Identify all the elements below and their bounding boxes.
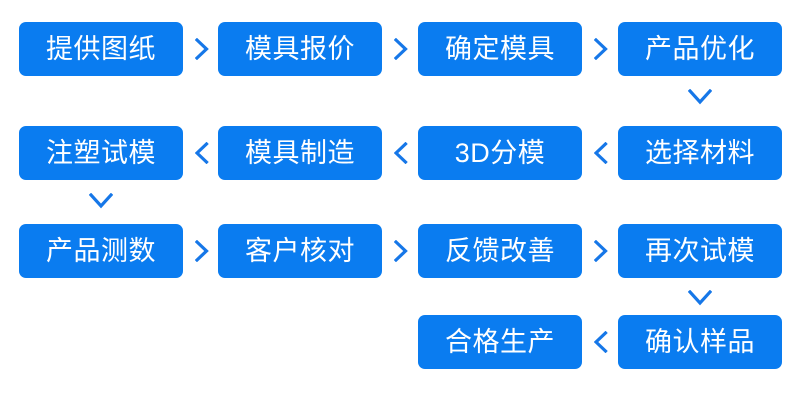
node-select-material[interactable]: 选择材料 xyxy=(618,126,782,180)
node-product-measure[interactable]: 产品测数 xyxy=(19,224,183,278)
chevron-left-icon xyxy=(384,126,418,180)
process-flow-diagram: 提供图纸 模具报价 确定模具 产品优化 注塑试模 模具制造 3D分模 选择材料 … xyxy=(0,0,790,416)
node-product-optimize[interactable]: 产品优化 xyxy=(618,22,782,76)
node-qualified-production[interactable]: 合格生产 xyxy=(418,315,582,369)
chevron-left-icon xyxy=(584,126,618,180)
chevron-right-icon xyxy=(584,224,618,278)
chevron-right-icon xyxy=(584,22,618,76)
node-confirm-mold[interactable]: 确定模具 xyxy=(418,22,582,76)
chevron-left-icon xyxy=(584,315,618,369)
chevron-right-icon xyxy=(384,224,418,278)
node-mold-quotation[interactable]: 模具报价 xyxy=(218,22,382,76)
chevron-right-icon xyxy=(185,22,219,76)
node-3d-parting[interactable]: 3D分模 xyxy=(418,126,582,180)
node-feedback-improve[interactable]: 反馈改善 xyxy=(418,224,582,278)
chevron-down-icon xyxy=(81,184,121,218)
node-customer-check[interactable]: 客户核对 xyxy=(218,224,382,278)
node-injection-trial[interactable]: 注塑试模 xyxy=(19,126,183,180)
chevron-right-icon xyxy=(185,224,219,278)
chevron-down-icon xyxy=(680,80,720,114)
node-mold-manufacture[interactable]: 模具制造 xyxy=(218,126,382,180)
chevron-left-icon xyxy=(185,126,219,180)
node-confirm-sample[interactable]: 确认样品 xyxy=(618,315,782,369)
node-retrial-mold[interactable]: 再次试模 xyxy=(618,224,782,278)
chevron-down-icon xyxy=(680,281,720,315)
node-provide-drawing[interactable]: 提供图纸 xyxy=(19,22,183,76)
chevron-right-icon xyxy=(384,22,418,76)
